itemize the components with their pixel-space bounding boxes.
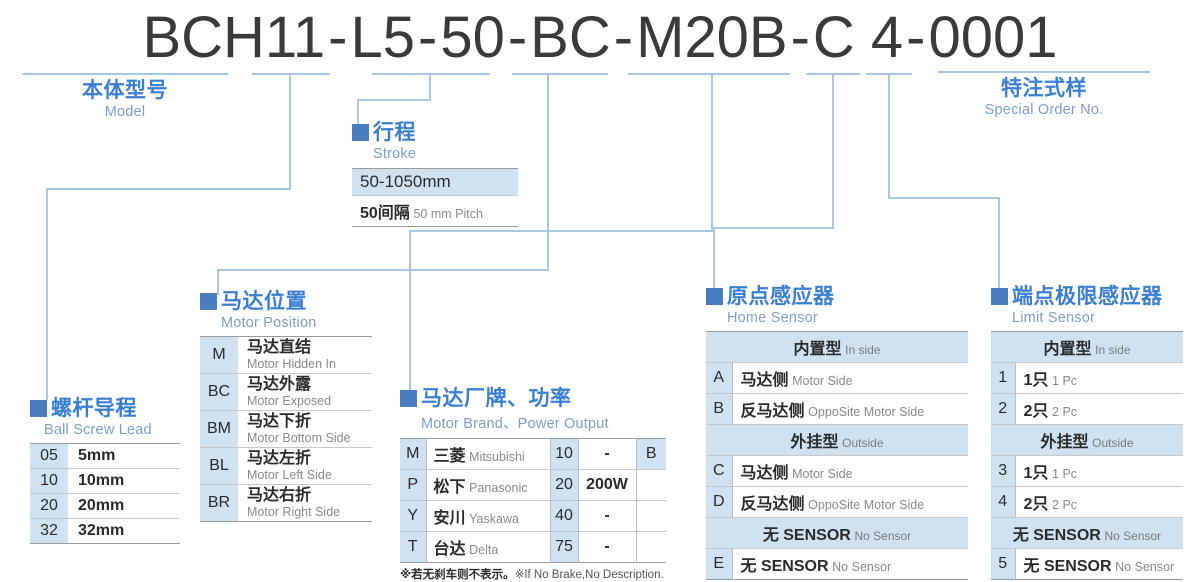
- motorpos-cn: 马达外露: [247, 376, 372, 394]
- motorpos-cn: 马达右折: [247, 487, 372, 505]
- table-row: P松下 Panasonic20200W: [400, 470, 666, 501]
- sensor-code: C: [706, 456, 732, 487]
- brand-en: Yaskawa: [469, 512, 519, 526]
- callout-special-cn: 特注式样: [1001, 78, 1087, 99]
- motorpos-en: Motor Exposed: [247, 394, 372, 408]
- lead-value-text: 20mm: [78, 497, 124, 514]
- motorpos-en: Motor Hidden In: [247, 357, 372, 371]
- sensor-group-header: 内置型 In side: [991, 332, 1183, 363]
- code-segment: BC: [530, 4, 611, 71]
- group-header-cn: 外挂型: [791, 434, 839, 451]
- motorpos-desc: 马达右折Motor Right Side: [238, 484, 372, 521]
- group-header-cn: 外挂型: [1041, 434, 1089, 451]
- code-separator: -: [611, 4, 636, 71]
- sensor-code: 4: [991, 487, 1015, 518]
- sensor-desc: 2只 2 Pc: [1015, 487, 1183, 518]
- power-value: -: [578, 501, 636, 532]
- brand-code: Y: [400, 501, 426, 532]
- sensor-desc: 马达侧 Motor Side: [732, 456, 968, 487]
- group-header-en: No Sensor: [1104, 529, 1161, 543]
- sensor-group-header: 外挂型 Outside: [706, 425, 968, 456]
- home-sensor-table: 内置型 In sideA马达侧 Motor SideB反马达侧 OppoSite…: [706, 331, 968, 580]
- lead-value: 32mm: [68, 519, 180, 544]
- table-row: M马达直结Motor Hidden In: [200, 337, 372, 374]
- group-header-cn: 内置型: [1044, 341, 1092, 358]
- table-row: 5无 SENSOR No Sensor: [991, 549, 1183, 580]
- brand-code: T: [400, 532, 426, 563]
- stroke-pitch-en: 50 mm Pitch: [413, 207, 482, 221]
- sensor-code: 5: [991, 549, 1015, 580]
- brand-code: P: [400, 470, 426, 501]
- callout-home-en: Home Sensor: [727, 310, 968, 326]
- brand-en: Mitsubishi: [469, 450, 525, 464]
- group-header-cn: 无 SENSOR: [763, 527, 851, 544]
- table-row: BR马达右折Motor Right Side: [200, 484, 372, 521]
- power-value: -: [578, 439, 636, 470]
- table-row: B反马达侧 OppoSite Motor Side: [706, 394, 968, 425]
- table-row: 42只 2 Pc: [991, 487, 1183, 518]
- callout-special-en: Special Order No.: [938, 102, 1150, 118]
- group-header-en: In side: [845, 343, 880, 357]
- sensor-cn: 马达侧: [741, 465, 789, 482]
- sensor-en: 2 Pc: [1052, 405, 1077, 419]
- sensor-desc: 反马达侧 OppoSite Motor Side: [732, 487, 968, 518]
- power-value: 200W: [578, 470, 636, 501]
- code-segment: 50: [440, 4, 505, 71]
- stroke-table: 50-1050mm 50间隔 50 mm Pitch: [352, 168, 518, 227]
- motorpos-desc: 马达左折Motor Left Side: [238, 447, 372, 484]
- group-header-en: No Sensor: [854, 529, 911, 543]
- sensor-desc: 马达侧 Motor Side: [732, 363, 968, 394]
- table-row: 50-1050mm: [352, 169, 518, 196]
- sensor-desc: 2只 2 Pc: [1015, 394, 1183, 425]
- table-row: 无 SENSOR No Sensor: [706, 518, 968, 549]
- sensor-group-header: 外挂型 Outside: [991, 425, 1183, 456]
- motorpos-desc: 马达下折Motor Bottom Side: [238, 410, 372, 447]
- code-segment: C 4: [813, 4, 903, 71]
- power-code: 10: [550, 439, 578, 470]
- motorpos-en: Motor Bottom Side: [247, 431, 372, 445]
- callout-model-en: Model: [22, 104, 228, 120]
- sensor-code: A: [706, 363, 732, 394]
- stroke-pitch-cn: 50间隔: [360, 205, 410, 222]
- footnote-en: ※If No Brake,No Description.: [515, 569, 664, 581]
- callout-brand-cn: 马达厂牌、功率: [421, 388, 572, 409]
- sensor-desc: 1只 1 Pc: [1015, 456, 1183, 487]
- model-code-line: BCH11-L5-50-BC-M20B-C 4-0001: [0, 2, 1200, 72]
- sensor-en: 1 Pc: [1052, 374, 1077, 388]
- power-value-text: -: [604, 538, 609, 555]
- sensor-cn: 无 SENSOR: [1024, 558, 1112, 575]
- lead-code: 20: [30, 494, 68, 519]
- callout-stroke-cn: 行程: [373, 122, 416, 143]
- sensor-cn: 2只: [1024, 403, 1049, 420]
- motorpos-desc: 马达直结Motor Hidden In: [238, 337, 372, 374]
- code-segment: BCH11: [142, 4, 325, 71]
- code-separator: -: [903, 4, 928, 71]
- sensor-en: OppoSite Motor Side: [808, 405, 924, 419]
- code-segment: M20B: [636, 4, 788, 71]
- lead-value-text: 10mm: [78, 472, 124, 489]
- power-value-text: -: [604, 445, 609, 462]
- table-row: C马达侧 Motor Side: [706, 456, 968, 487]
- callout-brand-en: Motor Brand、Power Output: [421, 412, 666, 433]
- sensor-code: D: [706, 487, 732, 518]
- power-value-text: 200W: [586, 476, 628, 493]
- code-segment: L5: [350, 4, 415, 71]
- motorpos-code: BL: [200, 447, 238, 484]
- motorpos-code: BR: [200, 484, 238, 521]
- brand-cn: 三菱: [434, 448, 466, 465]
- callout-lead-en: Ball Screw Lead: [44, 422, 180, 438]
- bullet-square-icon: [400, 390, 417, 407]
- sensor-en: No Sensor: [1115, 560, 1174, 574]
- motor-brand-table: M三菱 Mitsubishi10-BP松下 Panasonic20200WY安川…: [400, 438, 666, 563]
- sensor-code: 1: [991, 363, 1015, 394]
- power-code: 20: [550, 470, 578, 501]
- lead-code: 32: [30, 519, 68, 544]
- code-separator: -: [415, 4, 440, 71]
- table-row: 11只 1 Pc: [991, 363, 1183, 394]
- brand-name: 安川 Yaskawa: [426, 501, 550, 532]
- sensor-cn: 2只: [1024, 496, 1049, 513]
- table-row: 内置型 In side: [991, 332, 1183, 363]
- code-segment: 0001: [929, 4, 1058, 71]
- table-row: 3232mm: [30, 519, 180, 544]
- bullet-square-icon: [352, 124, 369, 141]
- code-separator: -: [505, 4, 530, 71]
- sensor-code: 2: [991, 394, 1015, 425]
- table-row: BM马达下折Motor Bottom Side: [200, 410, 372, 447]
- sensor-en: OppoSite Motor Side: [808, 498, 924, 512]
- brand-cn: 松下: [434, 479, 466, 496]
- bullet-square-icon: [706, 288, 723, 305]
- table-row: 外挂型 Outside: [706, 425, 968, 456]
- table-row: 055mm: [30, 444, 180, 469]
- lead-value-text: 5mm: [78, 447, 115, 464]
- motorpos-desc: 马达外露Motor Exposed: [238, 373, 372, 410]
- table-row: 外挂型 Outside: [991, 425, 1183, 456]
- table-row: 2020mm: [30, 494, 180, 519]
- table-row: D反马达侧 OppoSite Motor Side: [706, 487, 968, 518]
- table-row: 31只 1 Pc: [991, 456, 1183, 487]
- table-row: BC马达外露Motor Exposed: [200, 373, 372, 410]
- callout-model: 本体型号 Model: [22, 80, 228, 120]
- brand-en: Panasonic: [469, 481, 527, 495]
- brand-en: Delta: [469, 543, 498, 557]
- table-row: Y安川 Yaskawa40-: [400, 501, 666, 532]
- sensor-cn: 1只: [1024, 465, 1049, 482]
- bullet-square-icon: [30, 400, 47, 417]
- leader-home: [714, 74, 833, 290]
- brand-cn: 台达: [434, 541, 466, 558]
- brake-code: B: [636, 439, 666, 470]
- callout-home-cn: 原点感应器: [727, 286, 835, 307]
- motorpos-code: BC: [200, 373, 238, 410]
- sensor-group-header: 无 SENSOR No Sensor: [706, 518, 968, 549]
- lead-value: 20mm: [68, 494, 180, 519]
- callout-motor-brand: 马达厂牌、功率 Motor Brand、Power Output M三菱 Mit…: [400, 388, 666, 582]
- brand-code: M: [400, 439, 426, 470]
- group-header-en: Outside: [842, 436, 883, 450]
- table-row: BL马达左折Motor Left Side: [200, 447, 372, 484]
- motorpos-code: M: [200, 337, 238, 374]
- sensor-desc: 无 SENSOR No Sensor: [732, 549, 968, 580]
- motorpos-cn: 马达下折: [247, 413, 372, 431]
- brand-name: 台达 Delta: [426, 532, 550, 563]
- callout-limit-en: Limit Sensor: [1012, 310, 1183, 326]
- bullet-square-icon: [991, 288, 1008, 305]
- code-separator: -: [788, 4, 813, 71]
- sensor-desc: 反马达侧 OppoSite Motor Side: [732, 394, 968, 425]
- stroke-range: 50-1050mm: [360, 172, 451, 191]
- footnote-cn: ※若无刹车则不表示。: [400, 569, 515, 581]
- power-value: -: [578, 532, 636, 563]
- callout-special-order: 特注式样 Special Order No.: [938, 78, 1150, 118]
- sensor-cn: 马达侧: [741, 372, 789, 389]
- motorpos-code: BM: [200, 410, 238, 447]
- motorpos-en: Motor Left Side: [247, 468, 372, 482]
- limit-sensor-table: 内置型 In side11只 1 Pc22只 2 Pc外挂型 Outside31…: [991, 331, 1183, 580]
- sensor-cn: 反马达侧: [741, 403, 805, 420]
- callout-model-cn: 本体型号: [82, 80, 168, 101]
- sensor-en: No Sensor: [832, 560, 891, 574]
- lead-code: 05: [30, 444, 68, 469]
- sensor-code: B: [706, 394, 732, 425]
- sensor-en: 2 Pc: [1052, 498, 1077, 512]
- callout-motorpos-cn: 马达位置: [221, 291, 307, 312]
- callout-motorpos-en: Motor Position: [221, 315, 372, 331]
- motorpos-cn: 马达左折: [247, 450, 372, 468]
- sensor-cn: 无 SENSOR: [741, 558, 829, 575]
- brand-name: 三菱 Mitsubishi: [426, 439, 550, 470]
- brake-code: [636, 532, 666, 563]
- motorpos-cn: 马达直结: [247, 339, 372, 357]
- ball-screw-lead-table: 055mm1010mm2020mm3232mm: [30, 443, 180, 544]
- table-row: A马达侧 Motor Side: [706, 363, 968, 394]
- sensor-en: Motor Side: [792, 467, 852, 481]
- motor-position-table: M马达直结Motor Hidden InBC马达外露Motor ExposedB…: [200, 336, 372, 522]
- bullet-square-icon: [200, 293, 217, 310]
- callout-limit-sensor: 端点极限感应器 Limit Sensor 内置型 In side11只 1 Pc…: [991, 286, 1183, 580]
- table-row: 50间隔 50 mm Pitch: [352, 196, 518, 227]
- lead-value: 5mm: [68, 444, 180, 469]
- callout-motor-position: 马达位置 Motor Position M马达直结Motor Hidden In…: [200, 291, 372, 522]
- sensor-code: E: [706, 549, 732, 580]
- table-row: 内置型 In side: [706, 332, 968, 363]
- power-code: 40: [550, 501, 578, 532]
- motor-brand-footnote: ※若无刹车则不表示。※If No Brake,No Description.: [400, 566, 666, 582]
- brand-cn: 安川: [434, 510, 466, 527]
- group-header-en: In side: [1095, 343, 1130, 357]
- callout-lead-cn: 螺杆导程: [51, 398, 137, 419]
- sensor-code: 3: [991, 456, 1015, 487]
- callout-stroke-en: Stroke: [373, 146, 518, 162]
- callout-ball-screw-lead: 螺杆导程 Ball Screw Lead 055mm1010mm2020mm32…: [30, 398, 180, 544]
- sensor-desc: 无 SENSOR No Sensor: [1015, 549, 1183, 580]
- callout-stroke: 行程 Stroke 50-1050mm 50间隔 50 mm Pitch: [352, 122, 518, 227]
- sensor-en: 1 Pc: [1052, 467, 1077, 481]
- power-code: 75: [550, 532, 578, 563]
- callout-home-sensor: 原点感应器 Home Sensor 内置型 In sideA马达侧 Motor …: [706, 286, 968, 580]
- lead-value: 10mm: [68, 469, 180, 494]
- leader-stroke: [358, 74, 430, 126]
- table-row: E无 SENSOR No Sensor: [706, 549, 968, 580]
- group-header-cn: 内置型: [794, 341, 842, 358]
- code-separator: -: [325, 4, 350, 71]
- brand-name: 松下 Panasonic: [426, 470, 550, 501]
- sensor-group-header: 内置型 In side: [706, 332, 968, 363]
- table-row: 22只 2 Pc: [991, 394, 1183, 425]
- table-row: 1010mm: [30, 469, 180, 494]
- sensor-group-header: 无 SENSOR No Sensor: [991, 518, 1183, 549]
- sensor-desc: 1只 1 Pc: [1015, 363, 1183, 394]
- sensor-en: Motor Side: [792, 374, 852, 388]
- lead-value-text: 32mm: [78, 522, 124, 539]
- table-row: T台达 Delta75-: [400, 532, 666, 563]
- brake-code: [636, 470, 666, 501]
- brake-code: [636, 501, 666, 532]
- motorpos-en: Motor Right Side: [247, 505, 372, 519]
- table-row: 无 SENSOR No Sensor: [991, 518, 1183, 549]
- power-value-text: -: [604, 507, 609, 524]
- lead-code: 10: [30, 469, 68, 494]
- sensor-cn: 1只: [1024, 372, 1049, 389]
- group-header-cn: 无 SENSOR: [1013, 527, 1101, 544]
- sensor-cn: 反马达侧: [741, 496, 805, 513]
- table-row: M三菱 Mitsubishi10-B: [400, 439, 666, 470]
- group-header-en: Outside: [1092, 436, 1133, 450]
- callout-limit-cn: 端点极限感应器: [1012, 286, 1163, 307]
